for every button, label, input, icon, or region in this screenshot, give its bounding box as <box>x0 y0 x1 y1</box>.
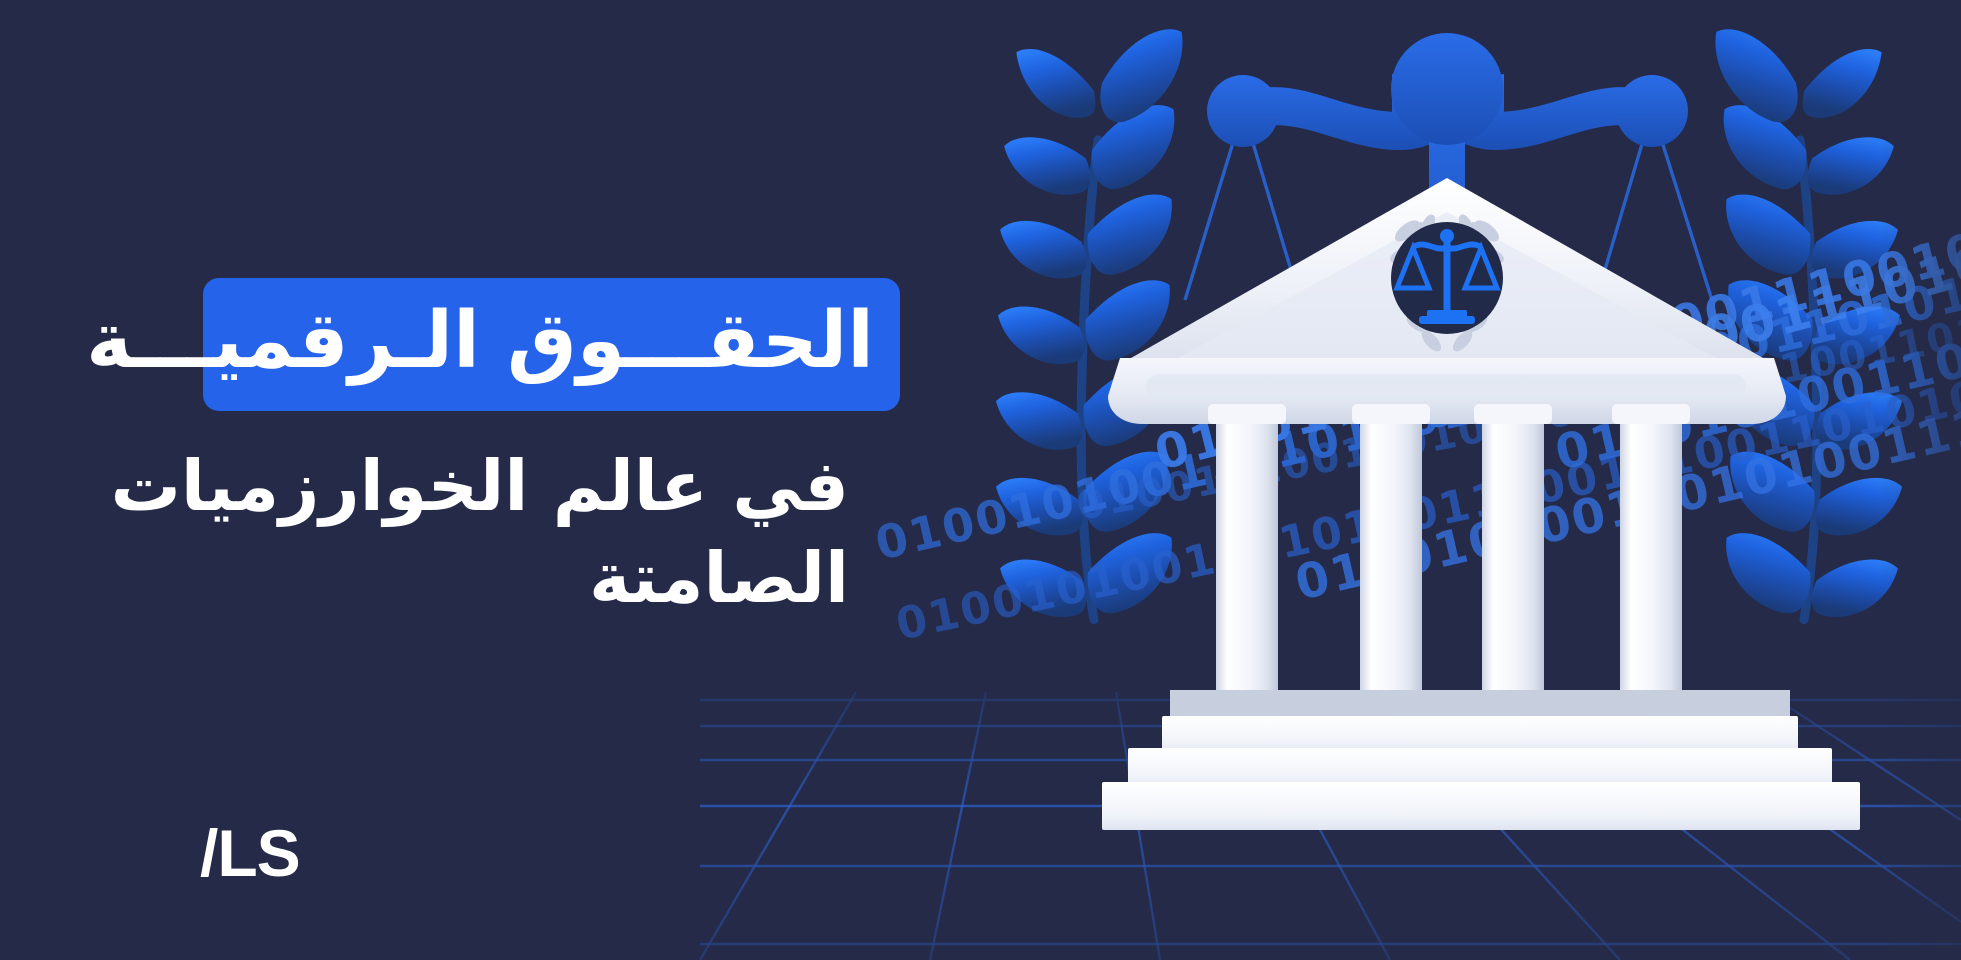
subtitle-line-2: الصامتة <box>89 532 849 624</box>
subtitle: في عالم الخوارزميات الصامتة <box>89 440 849 625</box>
scales-knob-left <box>1207 75 1279 147</box>
scales-knob-right <box>1616 75 1688 147</box>
temple-steps <box>1102 690 1860 830</box>
temple-step <box>1102 782 1860 830</box>
vignette-right <box>1880 0 1961 960</box>
scales-knob-center <box>1391 33 1503 145</box>
headline-block: الحقـــوق الـرقميـــة في عالم الخوارزميا… <box>0 0 930 960</box>
title-badge-text: الحقـــوق الـرقميـــة <box>86 302 874 380</box>
brand-logo: /LS <box>200 820 300 886</box>
title-badge: الحقـــوق الـرقميـــة <box>203 278 900 411</box>
banner-canvas: 0100101001101010011100101001101010001010… <box>0 0 1961 960</box>
subtitle-line-1: في عالم الخوارزميات <box>89 440 849 532</box>
